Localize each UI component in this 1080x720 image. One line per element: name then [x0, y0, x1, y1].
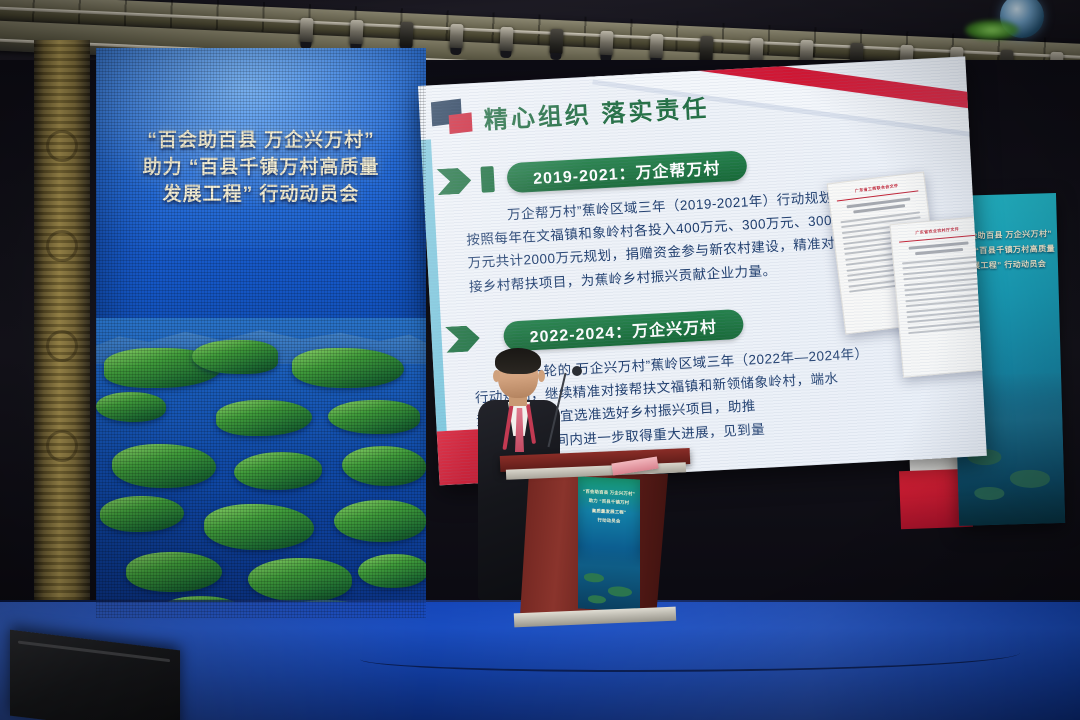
- island-7: [112, 444, 216, 488]
- slide-logo-icon: [431, 99, 477, 139]
- podium: “百会助百县 万企兴万村” 助力 “百县千镇万村 高质量发展工程” 行动动员会: [516, 452, 676, 626]
- island-11: [204, 504, 314, 550]
- podium-line-4: 行动动员会: [581, 514, 637, 526]
- speaker-ear-left: [493, 370, 500, 382]
- island-15: [358, 554, 426, 588]
- island-14: [248, 558, 352, 602]
- led-wall-title: “百会助百县 万企兴万村” 助力 “百县千镇万村高质量 发展工程” 行动动员会: [108, 128, 414, 209]
- speaker-hair: [495, 348, 541, 374]
- section-pill-2: 2022-2024：万企兴万村: [503, 309, 744, 352]
- island-6: [328, 400, 420, 434]
- stage-light-9: [699, 36, 713, 63]
- stage-light-8: [649, 33, 663, 60]
- stage-light-7: [599, 31, 613, 58]
- logo-red-square: [449, 112, 473, 134]
- island-4: [96, 392, 166, 422]
- island-3: [292, 348, 404, 388]
- stage-light-5: [499, 26, 513, 53]
- stage-light-3: [399, 22, 413, 49]
- chevron-icon-2: [445, 325, 480, 353]
- gold-column-left: [34, 40, 90, 600]
- island-8: [234, 452, 322, 490]
- island-9: [342, 446, 426, 486]
- podium-panel-text: “百会助百县 万企兴万村” 助力 “百县千镇万村 高质量发展工程” 行动动员会: [581, 487, 637, 527]
- slide-heading: 精心组织 落实责任: [483, 88, 710, 135]
- island-13: [126, 552, 222, 592]
- section-body-1: 万企帮万村”蕉岭区域三年（2019-2021年）行动规划， 按照每年在文福镇和象…: [465, 184, 869, 298]
- stage-light-4: [449, 24, 463, 51]
- document-thumbnail-2: 广东省农业农村厅文件: [890, 216, 987, 378]
- island-12: [334, 500, 426, 542]
- island-2: [192, 340, 278, 374]
- chevron-icon-1: [437, 167, 472, 195]
- stage-photo: “百会助百县 万企兴万村” 助力 “百县千镇万村高质量 发展工程” 行动动员会 …: [0, 0, 1080, 720]
- led-title-line-1: “百会助百县 万企兴万村”: [108, 128, 414, 155]
- speaker-ear-right: [538, 370, 545, 382]
- stage-light-2: [349, 20, 363, 47]
- podium-panel-landscape: [578, 546, 640, 611]
- section-pill-1: 2019-2021：万企帮万村: [506, 150, 747, 193]
- microphone-icon: [572, 366, 582, 376]
- led-wall-left: “百会助百县 万企兴万村” 助力 “百县千镇万村高质量 发展工程” 行动动员会: [96, 48, 426, 618]
- stage-light-1: [299, 17, 313, 44]
- podium-graphic-panel: “百会助百县 万企兴万村” 助力 “百县千镇万村 高质量发展工程” 行动动员会: [578, 476, 640, 611]
- led-title-line-3: 发展工程” 行动动员会: [108, 182, 414, 209]
- chevron-bar-1: [480, 166, 494, 193]
- green-exit-glow: [965, 20, 1019, 40]
- doc1-header: 广东省工商联合会文件: [835, 180, 919, 196]
- led-title-line-2: 助力 “百县千镇万村高质量: [108, 155, 414, 182]
- stage-light-6: [549, 29, 563, 56]
